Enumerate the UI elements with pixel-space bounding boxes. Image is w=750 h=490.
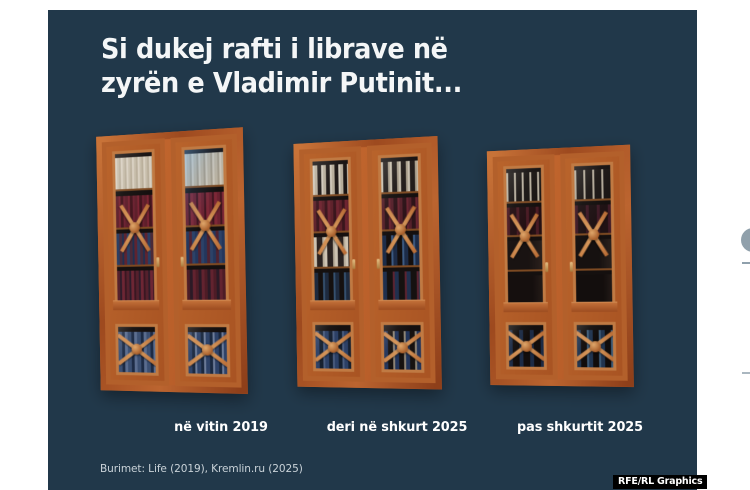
shelf: [507, 202, 542, 237]
glass-pane-upper: [310, 157, 353, 306]
bookcase-comparison-row: [48, 10, 697, 410]
glass-pane-lower: [312, 322, 354, 372]
book-row: [315, 330, 351, 368]
bookcase-until-feb-2025: [292, 140, 440, 388]
credit-badge: RFE/RL Graphics: [613, 475, 707, 489]
shelf: [507, 237, 542, 272]
cabinet-mid-rail: [113, 300, 159, 310]
shelf-stack: [509, 326, 544, 367]
door-handle: [545, 262, 548, 272]
book-row: [118, 332, 156, 373]
glass-pane-upper: [112, 149, 157, 305]
shelf: [116, 228, 153, 267]
book-row: [116, 194, 153, 227]
door-handle: [156, 257, 159, 267]
cabinet-body: [487, 145, 634, 387]
shelf: [508, 271, 543, 304]
book-row: [507, 206, 542, 235]
bookcase-caption-until-feb-2025: deri në shkurt 2025: [301, 419, 493, 435]
shelf-stack: [506, 168, 543, 304]
cabinet-door-left: [102, 138, 170, 386]
shelf-stack: [312, 160, 350, 303]
shelf: [506, 168, 541, 204]
shelf: [574, 165, 610, 201]
cabinet-body: [293, 136, 441, 390]
shelf: [115, 152, 152, 192]
book-row: [115, 156, 152, 189]
book-row: [313, 200, 349, 231]
book-row: [117, 270, 154, 302]
shelf: [314, 268, 350, 302]
shelf: [509, 326, 544, 367]
bookcase-caption-2019: në vitin 2019: [116, 419, 327, 435]
cabinet-body: [96, 127, 248, 394]
shelf: [117, 266, 154, 302]
shelf-stack: [115, 152, 154, 302]
book-row: [506, 172, 541, 202]
bookcase-caption-after-feb-2025: pas shkurtit 2025: [483, 419, 677, 435]
door-handle: [352, 259, 355, 269]
book-row: [507, 241, 542, 270]
bookcase-after-feb-2025: [486, 148, 632, 386]
shelf: [312, 160, 348, 197]
shelf: [118, 327, 156, 373]
cabinet-mid-rail: [310, 300, 355, 310]
shelf-stack: [118, 327, 156, 373]
glass-pane-upper: [503, 165, 546, 307]
book-row: [314, 272, 350, 302]
bookcase-2019: [94, 132, 246, 392]
book-row: [508, 275, 543, 304]
book-row: [313, 164, 349, 195]
book-row: [314, 236, 350, 267]
shelf: [116, 190, 153, 229]
source-attribution: Burimet: Life (2019), Kremlin.ru (2025): [100, 462, 303, 475]
pager-tick: [742, 372, 750, 374]
book-row: [575, 239, 611, 269]
glass-pane-lower: [115, 324, 158, 376]
glass-pane-lower: [506, 323, 547, 370]
shelf: [315, 325, 351, 369]
infographic-panel: Si dukej rafti i librave në zyrën e Vlad…: [48, 10, 697, 490]
page-root: Si dukej rafti i librave në zyrën e Vlad…: [0, 0, 750, 490]
shelf: [313, 196, 349, 233]
shelf: [314, 232, 350, 269]
next-arrow-icon[interactable]: [741, 228, 750, 252]
pager-tick: [742, 262, 750, 264]
shelf-stack: [315, 325, 351, 369]
book-row: [509, 330, 544, 366]
book-row: [116, 232, 153, 264]
cabinet-door-left: [493, 154, 558, 380]
cabinet-mid-rail: [503, 302, 548, 312]
